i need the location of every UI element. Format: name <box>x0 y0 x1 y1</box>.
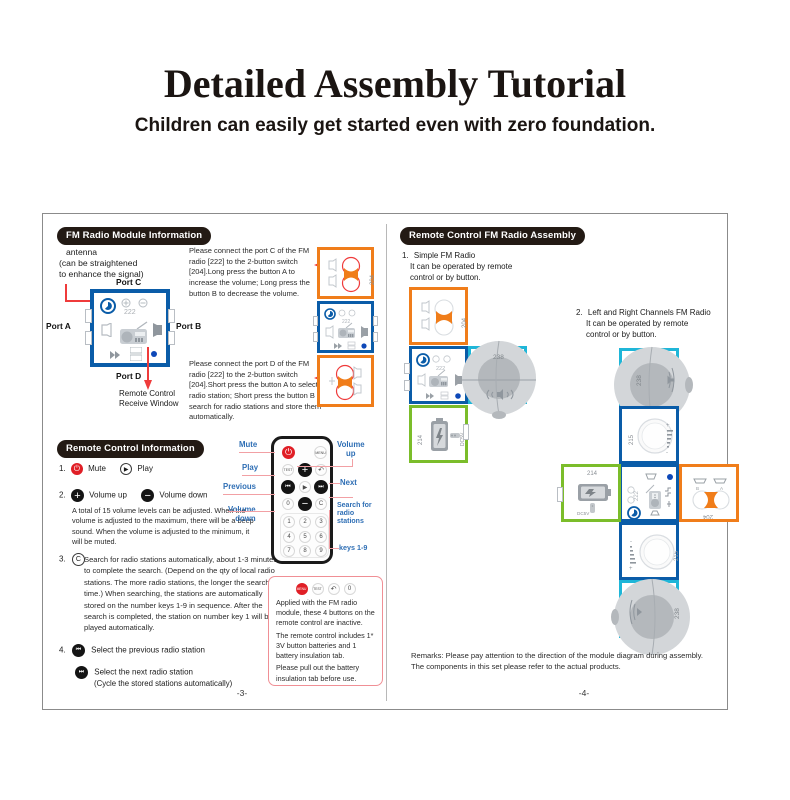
step2-battery-dc-label: DC5V <box>577 511 589 516</box>
step2-line2: It can be operated by remote <box>586 319 688 330</box>
remote-item-4-next-label: Select the next radio station <box>94 668 193 677</box>
switch-module-box-bottom <box>317 355 374 407</box>
radio-module-thumb-icon: 222 <box>324 308 372 352</box>
remote-item-4: 4. ⏮ Select the previous radio station <box>59 644 205 657</box>
module-ear-right-top <box>168 309 175 323</box>
port-b-label: Port B <box>176 321 201 332</box>
keypad-key-8[interactable]: 8 <box>299 545 311 557</box>
step2-speaker-bottom-wave-icon <box>628 596 644 628</box>
note-port-c: Please connect the port C of the FM radi… <box>189 246 322 299</box>
step1-line2: It can be operated by remote <box>410 262 512 273</box>
callout-search-line <box>329 497 353 498</box>
tutorial-page: Detailed Assembly Tutorial Children can … <box>0 0 790 800</box>
step2-line3: control or by button. <box>586 330 657 341</box>
track-small-icon <box>130 347 142 361</box>
svg-text:+: + <box>629 566 633 571</box>
remote-item-2-volup-label: Volume up <box>89 491 127 500</box>
thumb-ear-right-top <box>373 316 378 326</box>
step1-line3: control or by button. <box>410 273 481 284</box>
callout-volume-up-stem <box>352 459 353 467</box>
step1-radio-ear-bottom <box>404 380 410 391</box>
ir-receive-window-dot <box>151 351 157 357</box>
play-icon: ▶ <box>120 463 132 475</box>
step1-number: 1. Simple FM Radio <box>402 251 475 262</box>
step2-volume-bars-bottom-icon: - + <box>627 537 638 571</box>
svg-text:+: + <box>666 423 670 429</box>
step1-switch-code: 204 <box>462 318 468 328</box>
step1-title-text: Simple FM Radio <box>414 251 475 260</box>
remote-item-1-mute-label: Mute <box>88 464 106 473</box>
remote-item-1-play-label: Play <box>137 464 153 473</box>
step2-switch-icon: B A <box>690 473 734 517</box>
right-page-number: -4- <box>242 688 790 698</box>
search-c-icon: C <box>72 553 85 566</box>
step1-radio-ear-top <box>404 363 410 374</box>
remote-item-2-number: 2. <box>59 491 66 500</box>
volume-plus-icon <box>121 298 131 308</box>
switch-module-box-top: 204 <box>317 247 374 299</box>
callout-volume-up: Volume up <box>337 441 365 459</box>
step2-speaker-top-box: 238 <box>619 348 679 406</box>
page-divider <box>386 224 387 701</box>
step1-num-text: 1. <box>402 251 409 260</box>
keypad-key-4[interactable]: 4 <box>283 531 295 543</box>
callout-mute: Mute <box>239 441 257 450</box>
manual-spread: FM Radio Module Information antenna (can… <box>42 213 728 710</box>
svg-text:B: B <box>696 486 699 491</box>
remote-item-4-number: 4. <box>59 646 66 655</box>
remote-zero-button[interactable]: 0 <box>282 498 294 510</box>
step2-battery-ear <box>557 487 563 502</box>
remote-menu-button[interactable]: MENU <box>314 446 327 459</box>
radio-module-thumb: 222 <box>317 301 374 353</box>
step2-speaker-top-wave-icon <box>660 364 676 396</box>
remote-item-2-voldown-label: Volume down <box>159 491 207 500</box>
keypad-key-1[interactable]: 1 <box>283 516 295 528</box>
port-c-label: Port C <box>116 277 141 288</box>
receive-window-arrow-stem <box>147 347 149 383</box>
step1-battery-ear <box>463 424 469 440</box>
remote-item-2: 2. + Volume up − Volume down <box>59 489 207 502</box>
step2-title-text: Left and Right Channels FM Radio <box>588 308 711 317</box>
step2-num-text: 2. <box>576 308 583 317</box>
svg-text:-: - <box>666 450 668 455</box>
step2-knob-top-box: 215 + - <box>619 406 679 464</box>
callout-previous: Previous <box>223 483 256 492</box>
remote-control-fm-radio-assembly-header: Remote Control FM Radio Assembly <box>400 227 585 245</box>
minus-icon: − <box>141 489 154 502</box>
step1-speaker-box: 238 <box>468 346 527 404</box>
remote-control-information-header: Remote Control Information <box>57 440 204 458</box>
next-track-icon: ⏭ <box>75 666 88 679</box>
port-a-label: Port A <box>46 321 71 332</box>
step2-radio-center-box: 222 <box>619 464 679 522</box>
step2-knob-bottom-box: 215 - + <box>619 522 679 580</box>
keypad-key-2[interactable]: 2 <box>299 516 311 528</box>
callout-keys-line <box>329 548 339 549</box>
inactive-buttons-row: MENU TEST ↶ 0 <box>276 583 375 595</box>
keypad-key-3[interactable]: 3 <box>315 516 327 528</box>
note-box-line3: Please pull out the battery insulation t… <box>276 663 375 683</box>
step1-battery-box: 214 DC5V <box>409 405 468 463</box>
remote-minus-button[interactable]: − <box>298 497 312 511</box>
remote-item-4-next: ⏭ Select the next radio station <box>75 666 193 679</box>
inactive-zero-button: 0 <box>344 583 356 595</box>
step1-switch-icon <box>420 298 460 338</box>
port-d-label: Port D <box>116 371 141 382</box>
callout-keys-vert <box>329 510 330 548</box>
step2-knob-bottom-icon <box>638 532 680 574</box>
receive-window-label-line1: Remote Control <box>119 389 175 400</box>
plus-icon: + <box>71 489 84 502</box>
svg-text:-: - <box>630 539 632 545</box>
callout-search: Search for radio stations <box>337 502 372 526</box>
volume-minus-icon <box>138 298 148 308</box>
output-port-icon <box>150 323 164 337</box>
callout-play-line <box>242 475 275 476</box>
inactive-back-button: ↶ <box>328 583 340 595</box>
step1-battery-code: 214 <box>418 435 424 445</box>
step2-speaker-bottom-box: 238 <box>619 580 679 638</box>
callout-mute-line <box>239 452 275 453</box>
fm-radio-module-diagram: 222 <box>90 289 170 367</box>
page-subtitle: Children can easily get started even wit… <box>0 115 790 137</box>
note-box-line1: Applied with the FM radio module, these … <box>276 598 375 629</box>
callout-keys: keys 1-9 <box>339 544 367 552</box>
step2-radio-center-icon: 222 <box>627 471 677 521</box>
callout-next: Next <box>340 479 357 488</box>
receive-window-label-line2: Receive Window <box>119 399 179 410</box>
step2-speaker-bottom-icon <box>600 577 704 657</box>
step2-speaker-top-code: 238 <box>636 375 643 386</box>
remote-next-button[interactable]: ⏭ <box>314 480 328 494</box>
inactive-menu-button: MENU <box>296 583 308 595</box>
previous-track-icon: ⏮ <box>72 644 85 657</box>
fm-radio-module-information-header: FM Radio Module Information <box>57 227 211 245</box>
callout-play: Play <box>242 464 258 473</box>
remote-c-button[interactable]: C <box>315 498 327 510</box>
switch-code-label-top: 204 <box>370 275 376 285</box>
remarks-line2: The components in this set please refer … <box>411 662 621 672</box>
step2-switch-code: 204 <box>703 513 713 519</box>
two-button-switch-icon <box>326 255 368 295</box>
thumb-ear-left-bottom <box>313 332 318 342</box>
antenna-jack-icon <box>100 298 116 314</box>
page-title: Detailed Assembly Tutorial <box>0 60 790 107</box>
remote-play-button[interactable]: ▶ <box>299 481 311 493</box>
callout-next-line <box>329 483 340 484</box>
note-port-d: Please connect the port D of the FM radi… <box>189 359 327 423</box>
radio-body-icon <box>114 321 152 347</box>
step1-speaker-code: 238 <box>493 354 504 361</box>
module-code-222: 222 <box>124 309 136 316</box>
svg-text:A: A <box>720 486 724 491</box>
two-button-switch-icon-rotated <box>328 363 370 403</box>
keypad-key-7[interactable]: 7 <box>283 545 295 557</box>
power-icon: ⏻ <box>71 463 83 475</box>
remote-keypad: 1 2 3 4 5 6 7 8 9 <box>280 513 329 558</box>
svg-text:222: 222 <box>342 319 351 325</box>
remote-item-1-number: 1. <box>59 464 66 473</box>
thumb-ear-right-bottom <box>373 332 378 342</box>
remote-item-4-prev-label: Select the previous radio station <box>91 646 205 655</box>
keypad-key-9[interactable]: 9 <box>315 545 327 557</box>
svg-text:222: 222 <box>634 490 640 501</box>
remote-note-box: MENU TEST ↶ 0 Applied with the FM radio … <box>268 576 383 686</box>
remote-item-3-number: 3. <box>59 555 66 564</box>
step2-speaker-bottom-code: 238 <box>674 608 681 619</box>
remote-control-diagram: ⏻ MENU TEST + ↶ ⏮ ▶ ⏭ 0 − C 1 2 3 4 5 6 … <box>271 436 333 564</box>
step2-battery-code: 214 <box>587 471 597 477</box>
step2-number: 2. Left and Right Channels FM Radio <box>576 308 711 319</box>
callout-volume-down: Volume down <box>228 506 256 524</box>
remote-previous-button[interactable]: ⏮ <box>281 480 295 494</box>
remote-item-1: 1. ⏻ Mute ▶ Play <box>59 463 153 475</box>
thumb-ear-left-top <box>313 316 318 326</box>
remote-test-button[interactable]: TEST <box>282 464 294 476</box>
keypad-key-5[interactable]: 5 <box>299 531 311 543</box>
callout-previous-line <box>223 494 275 495</box>
module-ear-left-bottom <box>85 331 92 345</box>
remarks-line1: Remarks: Please pay attention to the dir… <box>411 651 703 661</box>
play-small-icon <box>110 351 121 359</box>
callout-volume-up-line <box>297 466 353 467</box>
step2-switch-box: B A 204 <box>679 464 739 522</box>
step2-battery-box: 214 DC5V <box>561 464 621 522</box>
inactive-test-button: TEST <box>312 583 324 595</box>
step2-knob-top-code: 215 <box>629 435 635 445</box>
remote-power-button[interactable]: ⏻ <box>282 446 295 459</box>
note-box-line2: The remote control includes 1* 3V button… <box>276 631 375 662</box>
remote-item-3-body: Search for radio stations automatically,… <box>84 554 280 634</box>
callout-volume-down-line <box>228 511 275 512</box>
step2-volume-bars-top-icon: + - <box>665 421 676 455</box>
step1-speaker-wave-icon <box>483 388 517 401</box>
module-ear-right-bottom <box>168 331 175 345</box>
module-ear-left-top <box>85 309 92 323</box>
keypad-key-6[interactable]: 6 <box>315 531 327 543</box>
input-port-icon <box>100 323 113 337</box>
